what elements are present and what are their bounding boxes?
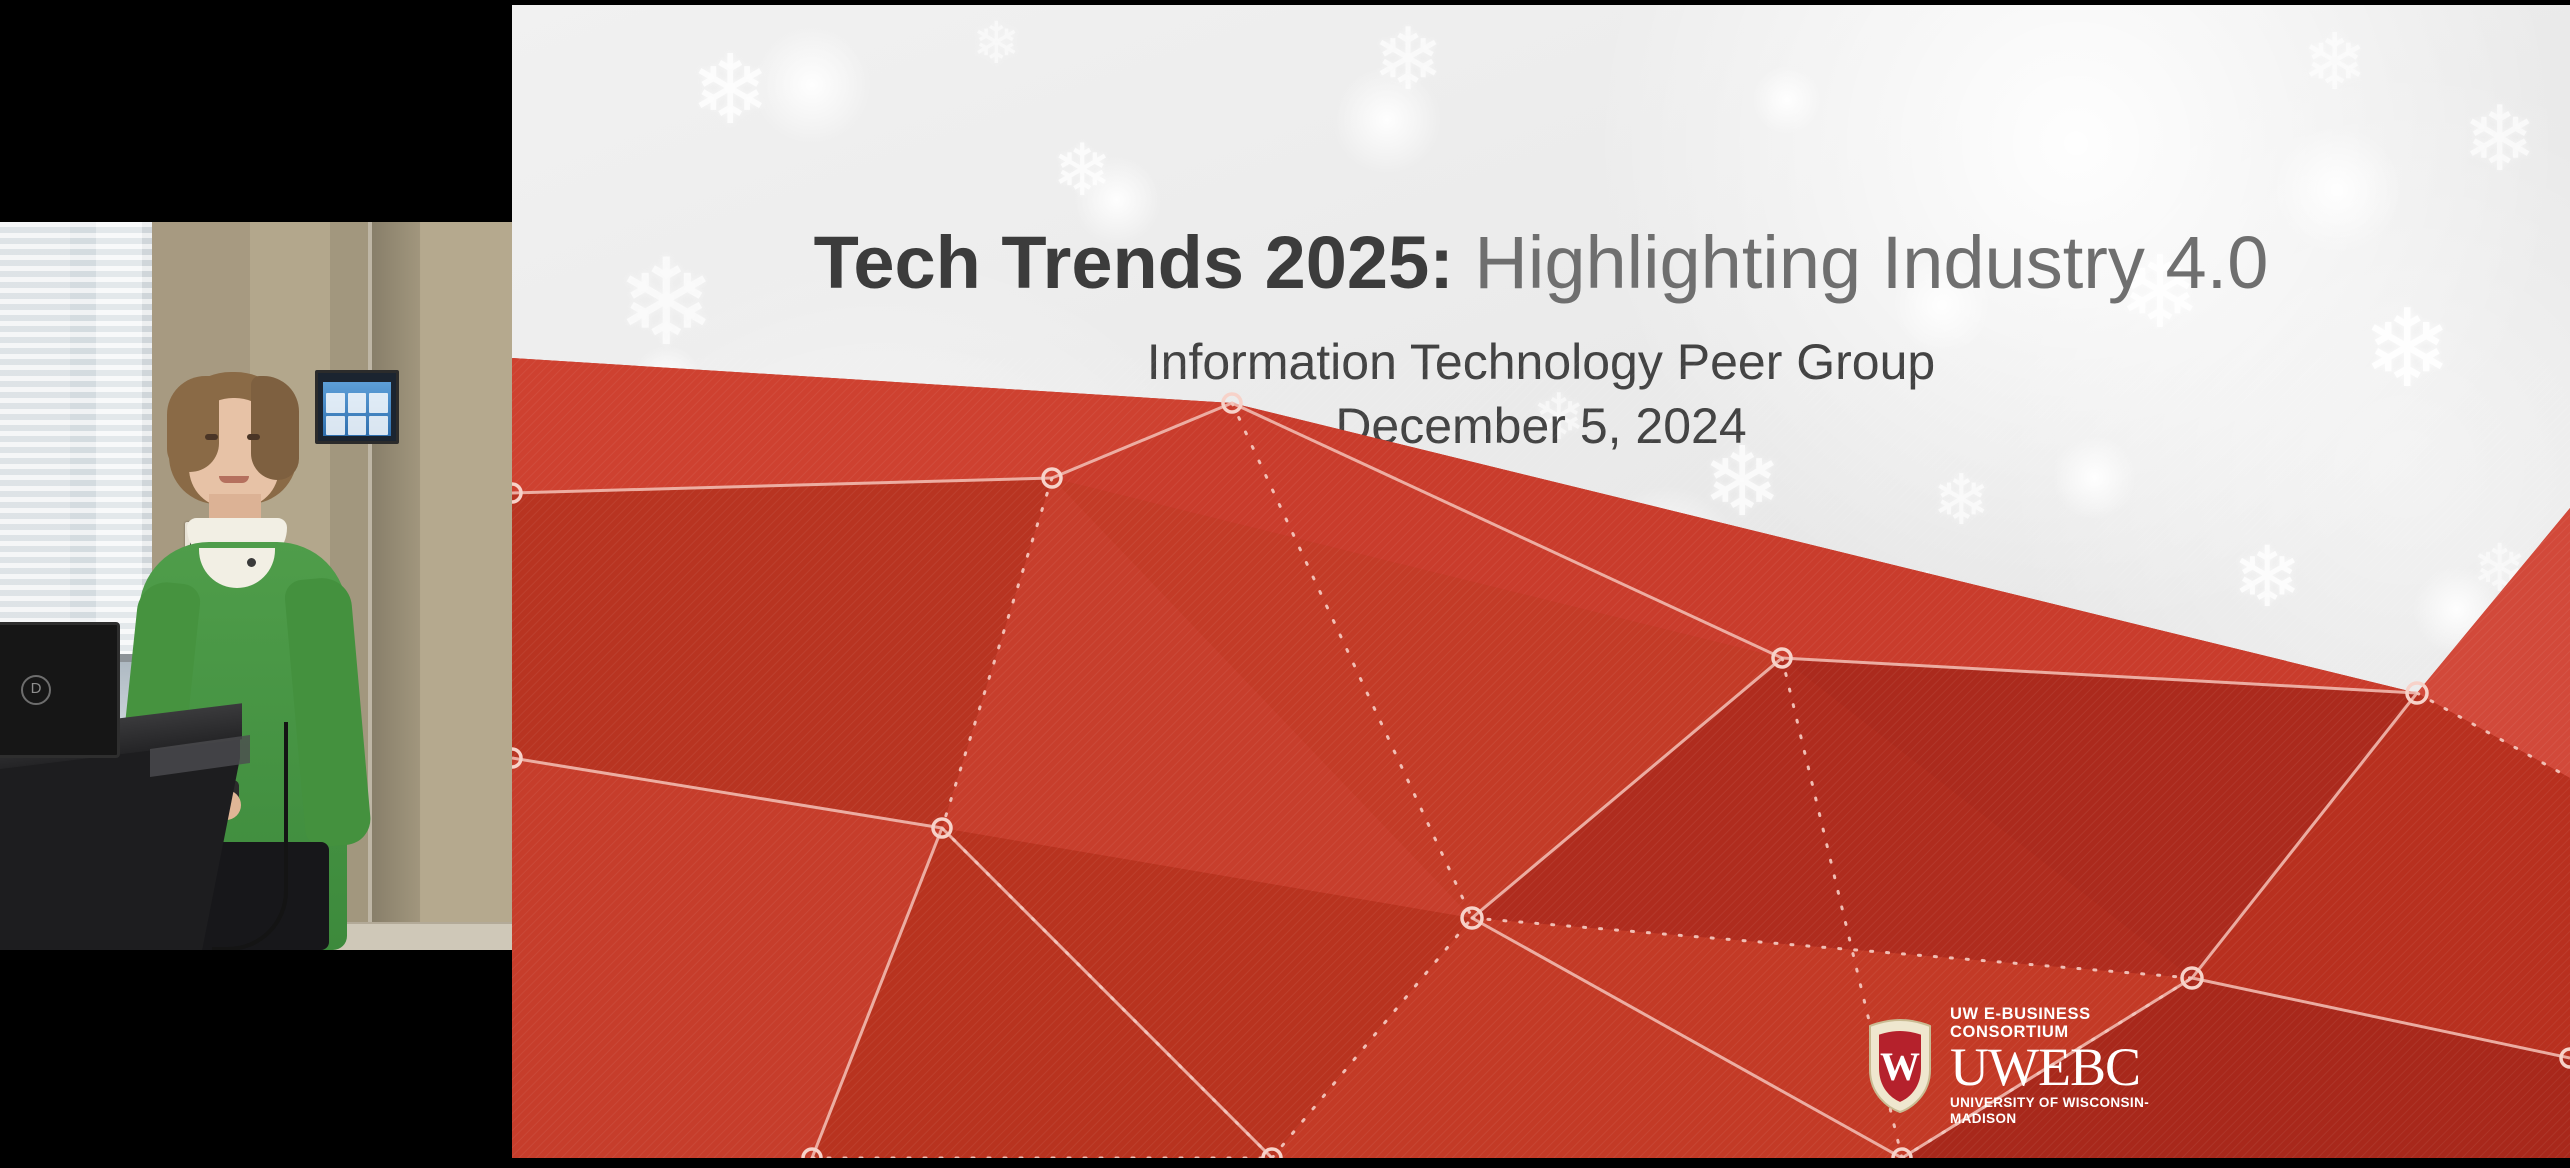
live-video-pane[interactable]: D Live Stream UWEBC [0, 0, 512, 1168]
touchpanel-tile [369, 416, 388, 436]
dell-logo-icon: D [21, 675, 51, 705]
dell-laptop: D [0, 622, 120, 758]
uwebc-logo: W UW E-BUSINESS CONSORTIUM UWEBC UNIVERS… [1864, 1013, 2156, 1119]
svg-text:W: W [1880, 1044, 1920, 1089]
letterbox-bar-top [512, 0, 2570, 5]
video-frame[interactable]: D Live Stream UWEBC [0, 222, 512, 950]
wall-shadow [372, 222, 422, 950]
slide-title-strong: Tech Trends 2025: [814, 221, 1454, 304]
uwebc-logo-bottom-line: UNIVERSITY OF WISCONSIN-MADISON [1950, 1095, 2156, 1127]
touchpanel-tile [369, 393, 388, 413]
polygon-network-graphic [512, 358, 2570, 1158]
presenter-eye-left [205, 434, 218, 440]
presenter-mouth [219, 476, 249, 483]
lapel-microphone [247, 558, 256, 567]
slide-title: Tech Trends 2025: Highlighting Industry … [512, 220, 2570, 306]
uw-crest-icon: W [1864, 1018, 1936, 1114]
slide-title-light: Highlighting Industry 4.0 [1454, 221, 2268, 304]
microphone-cable [212, 722, 288, 950]
presenter-hair-left [167, 376, 219, 472]
uwebc-logo-main: UWEBC [1950, 1041, 2156, 1093]
uwebc-logo-wordmark: UW E-BUSINESS CONSORTIUM UWEBC UNIVERSIT… [1950, 1005, 2156, 1127]
presenter-hair-right [251, 376, 299, 480]
presenter-eye-right [247, 434, 260, 440]
screen-capture: D Live Stream UWEBC ❄ ❄ ❄ ❄ ❄ [0, 0, 2570, 1168]
letterbox-bar-bottom [512, 1158, 2570, 1168]
red-polygon-band [512, 358, 2570, 1158]
presentation-slide[interactable]: ❄ ❄ ❄ ❄ ❄ ❄ ❄ ❄ ❄ ❄ ❄ ❄ ❄ ❄ ❄ ❄ ❄ Tech T… [512, 5, 2570, 1158]
uwebc-logo-top-line: UW E-BUSINESS CONSORTIUM [1950, 1005, 2156, 1041]
